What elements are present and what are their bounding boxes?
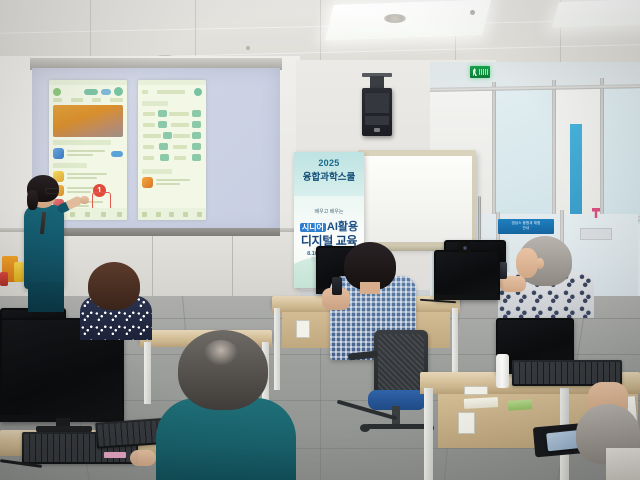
student-3-smartphone[interactable]	[332, 277, 342, 295]
student-2-hand	[130, 450, 156, 466]
desk-pink-sticker	[104, 452, 126, 458]
exit-sign	[470, 66, 490, 78]
banner-ai-tag: 시니어	[300, 223, 326, 232]
wall-cabinet-seam	[152, 232, 153, 304]
desk-asset-label	[296, 320, 310, 338]
desk-asset-label	[458, 412, 475, 434]
banner-program: 융합과학스쿨	[294, 169, 364, 183]
banner-tagline: 배우고 배우는	[294, 208, 364, 215]
projected-phone-screenshot-right	[138, 80, 206, 220]
shelf-object-red	[0, 272, 8, 286]
whiteboard-surface[interactable]	[362, 156, 472, 242]
water-bottle[interactable]	[496, 354, 509, 388]
student-2-head	[178, 330, 268, 410]
student-5-shirt	[606, 448, 640, 480]
ceiling-light-panel	[325, 0, 492, 41]
projected-app-row	[53, 185, 123, 196]
sprinkler-head	[470, 10, 475, 15]
chair-caster	[360, 424, 370, 432]
ceiling-light-panel	[552, 0, 640, 28]
glass-door-sign: 영상스 융합과 체험 안내	[498, 219, 554, 234]
wall-cabinet-seam	[232, 232, 233, 304]
desk-small-labels	[464, 386, 488, 395]
ceiling-vent	[384, 14, 406, 23]
student-4-ear	[536, 258, 544, 269]
projection-screen-bottom-bar	[32, 228, 280, 236]
instructor-glasses	[45, 188, 59, 194]
student-2-torso	[156, 398, 296, 480]
student-1-head	[88, 262, 140, 310]
instructor-lower-body	[28, 282, 64, 312]
projected-category-row	[143, 154, 201, 161]
exit-running-man-icon	[473, 68, 477, 76]
projected-category-row	[143, 132, 201, 139]
student-3-neck	[360, 282, 380, 294]
projected-hero-banner	[53, 105, 123, 137]
banner-year: 2025	[294, 158, 364, 168]
ceiling-speaker	[362, 88, 392, 136]
shelf-object-yellow	[14, 262, 24, 282]
chair-base	[366, 424, 428, 429]
projected-category-row	[143, 143, 201, 150]
instructor-hand	[80, 196, 89, 204]
desk-papers	[464, 397, 498, 409]
desk-leg	[144, 342, 151, 404]
phone-status-bar	[138, 80, 206, 85]
wall-notice-placard	[580, 228, 612, 240]
phone-nav-bar	[138, 208, 206, 220]
phone-status-bar	[49, 80, 127, 85]
glass-sign-line2: 안내	[498, 226, 554, 231]
projected-category-row	[143, 110, 201, 117]
sprinkler-head	[246, 46, 250, 50]
desk-leg	[424, 388, 433, 480]
projected-promo-row	[53, 148, 123, 159]
student-4-face	[516, 248, 538, 278]
classroom-photo-scene: 1	[0, 0, 640, 480]
webcam	[458, 242, 471, 253]
projected-app-row	[142, 177, 202, 188]
monitor	[434, 250, 500, 300]
projected-category-row	[143, 121, 201, 128]
green-packet	[508, 399, 533, 411]
instructor-hair-side	[27, 190, 38, 210]
door-handle[interactable]	[478, 196, 481, 240]
projected-app-row	[53, 171, 123, 182]
desk-leg	[274, 308, 280, 390]
